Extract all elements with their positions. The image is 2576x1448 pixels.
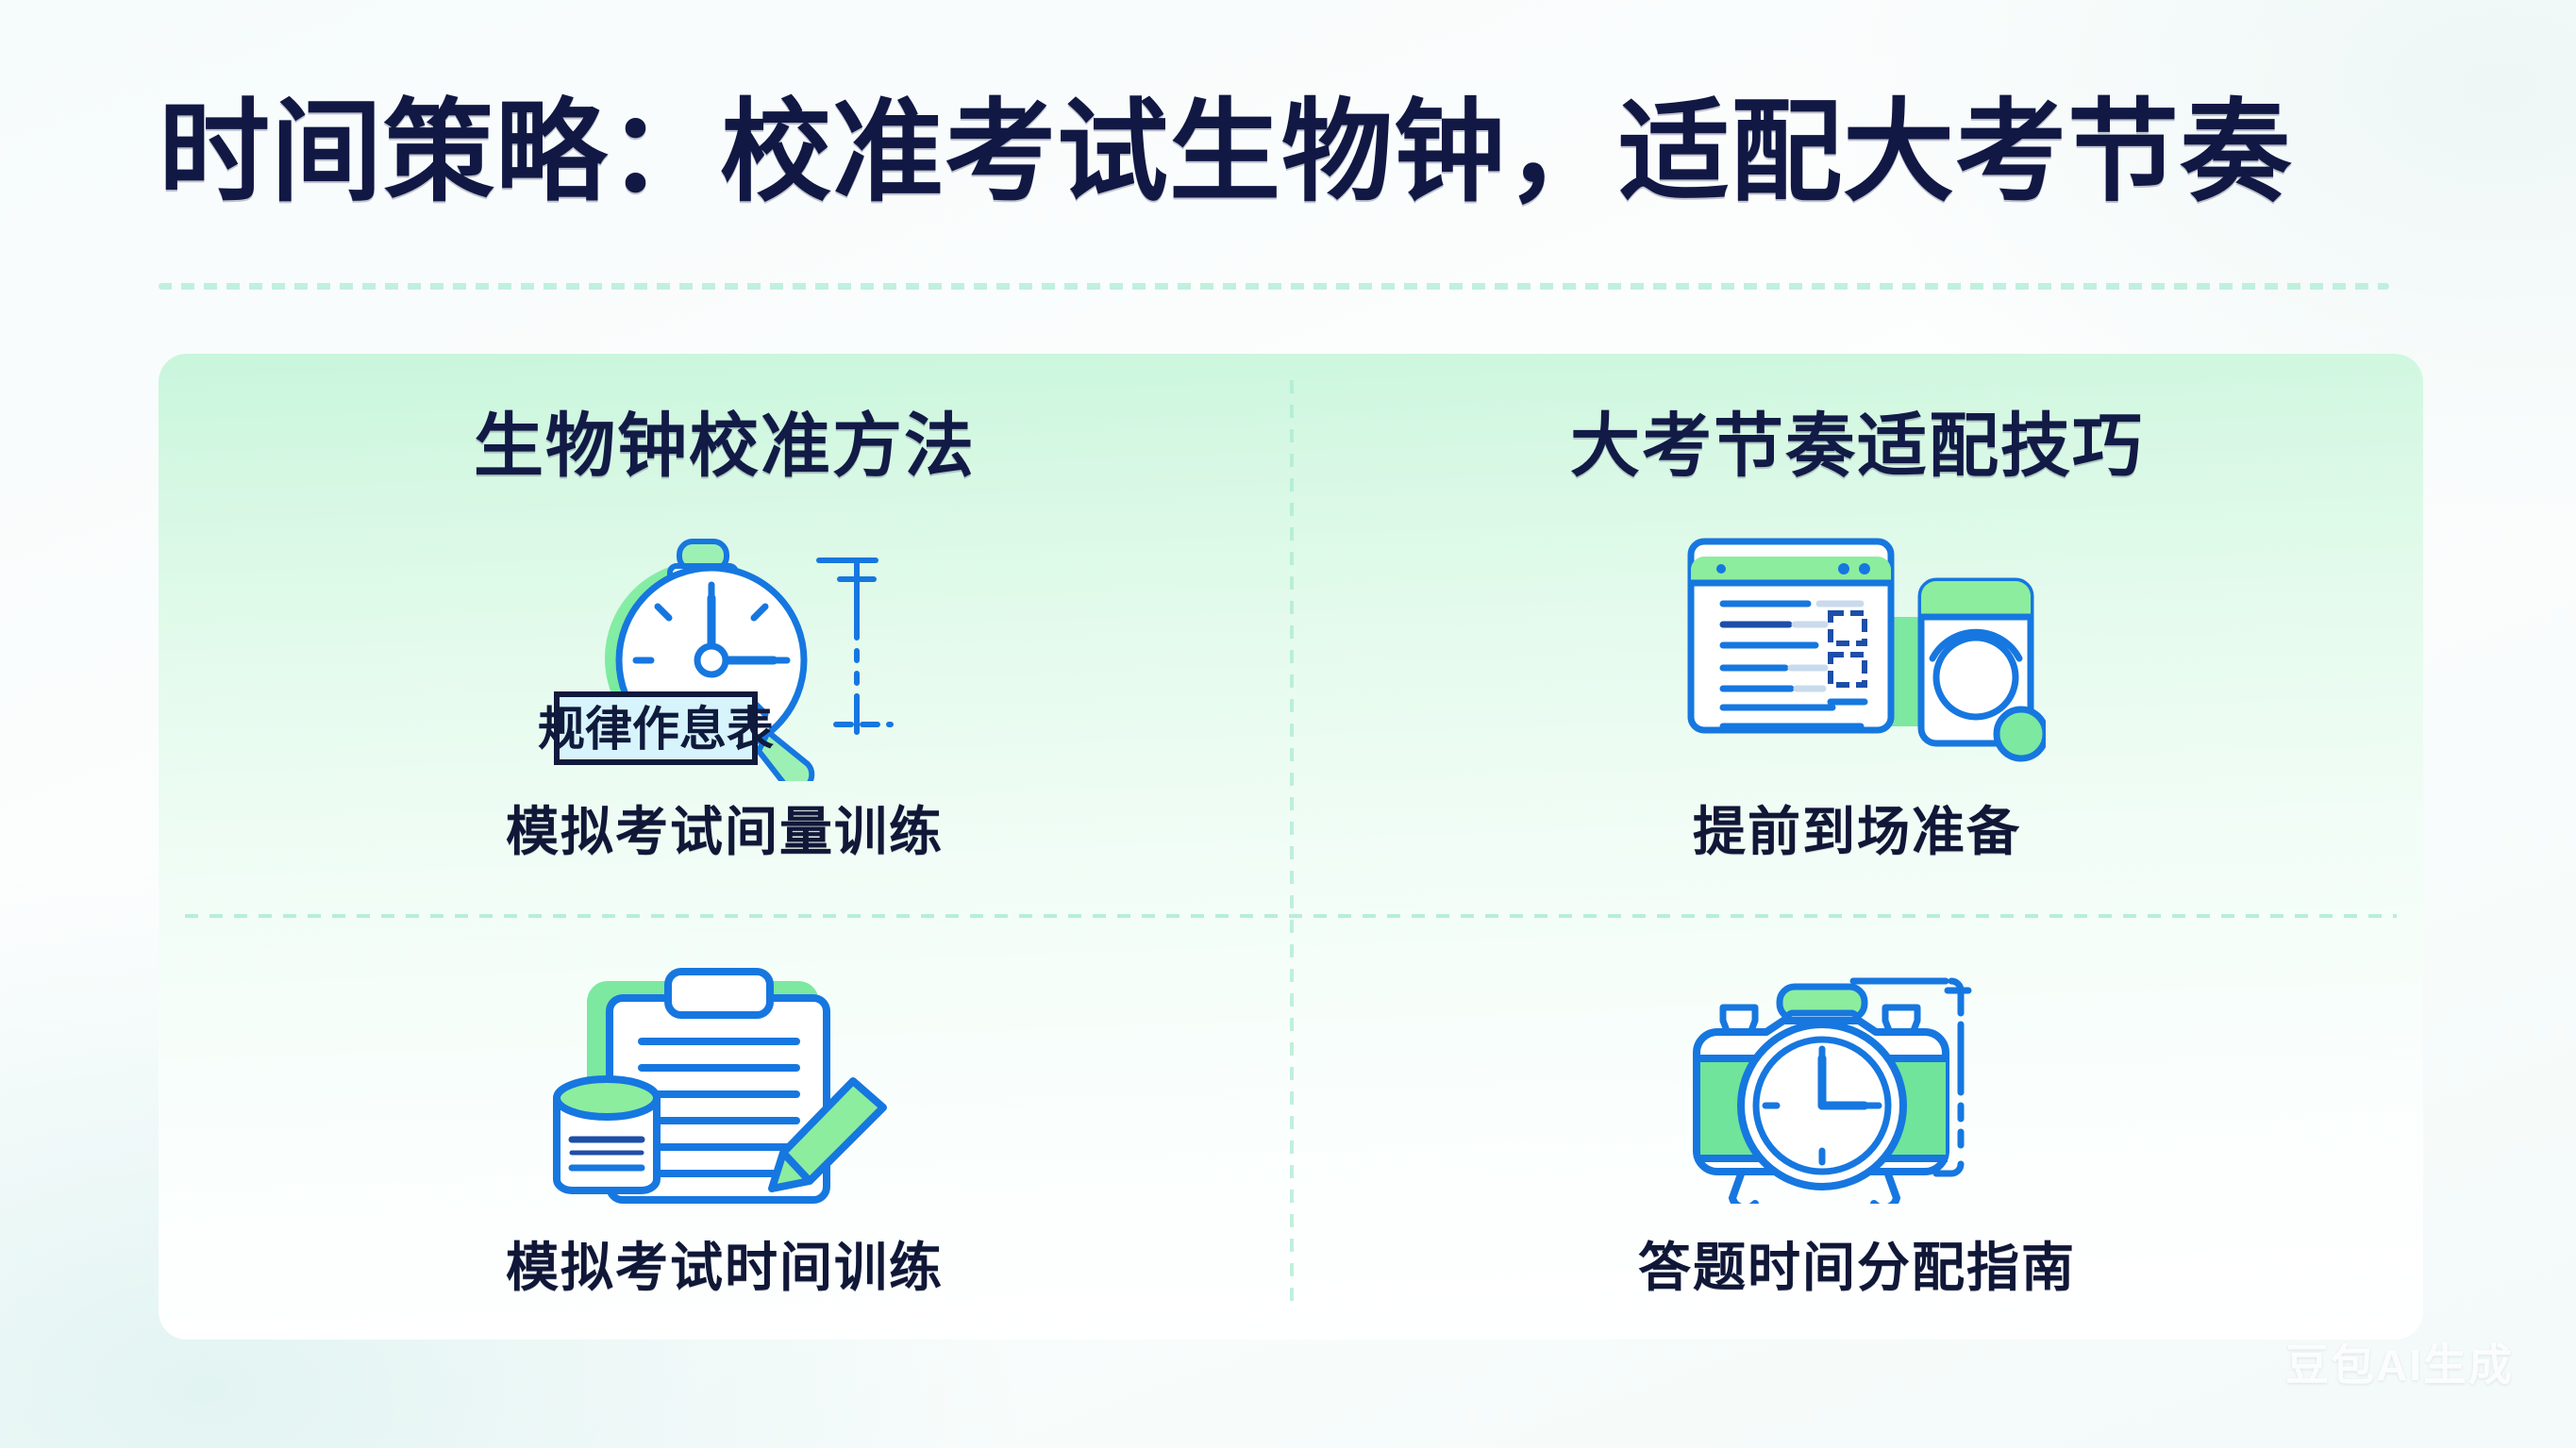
slide-root: 时间策略：校准考试生物钟，适配大考节奏 生物钟校准方法 大考节奏适配技巧 <box>0 0 2576 1448</box>
cell-caption: 提前到场准备 <box>1693 790 2021 866</box>
cell-left-bottom[interactable]: 模拟考试时间训练 <box>177 954 1272 1340</box>
vertical-dashed-divider <box>1290 380 1294 1309</box>
cell-caption: 模拟考试间量训练 <box>506 790 944 866</box>
content-card: 生物钟校准方法 大考节奏适配技巧 <box>159 354 2423 1340</box>
cell-left-top[interactable]: 规律作息表 模拟考试间量训练 <box>177 522 1272 927</box>
column-header-left: 生物钟校准方法 <box>177 390 1272 491</box>
document-device-icon <box>1659 522 2055 786</box>
page-title-wrap: 时间策略：校准考试生物钟，适配大考节奏 <box>159 91 2423 215</box>
clipboard-pen-icon <box>527 954 923 1208</box>
page-title: 时间策略：校准考试生物钟，适配大考节奏 <box>159 91 2423 215</box>
cell-right-top[interactable]: 提前到场准备 <box>1310 522 2404 927</box>
cell-right-bottom[interactable]: 答题时间分配指南 <box>1310 954 2404 1340</box>
watermark: 豆包AI生成 <box>2285 1331 2514 1393</box>
cell-caption: 答题时间分配指南 <box>1638 1225 2076 1302</box>
stopwatch-icon: 规律作息表 <box>527 522 923 786</box>
stopwatch-icon-label: 规律作息表 <box>538 703 774 756</box>
column-header-right: 大考节奏适配技巧 <box>1310 390 2404 491</box>
title-dashed-rule <box>159 283 2389 290</box>
cell-caption: 模拟考试时间训练 <box>506 1225 944 1302</box>
alarm-clock-icon <box>1659 954 2055 1208</box>
